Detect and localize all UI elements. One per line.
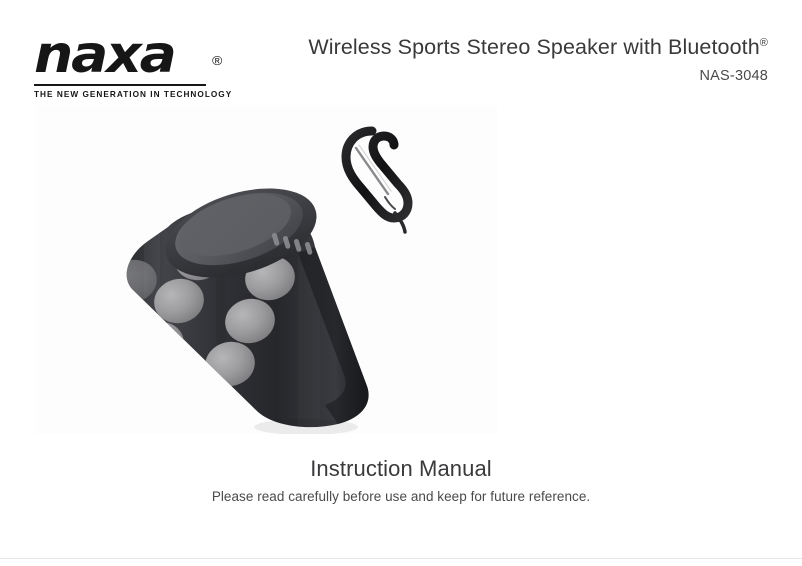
cover-caption-group: Instruction Manual Please read carefully… <box>0 455 802 506</box>
registered-trademark-icon: ® <box>212 34 222 88</box>
brand-wordmark-text: naxa <box>34 25 175 85</box>
carabiner-clip-icon <box>346 131 408 232</box>
naxa-brand-logo: naxa ® THE NEW GENERATION IN TECHNOLOGY <box>34 28 214 99</box>
product-image-region <box>36 105 497 434</box>
instruction-manual-heading: Instruction Manual <box>0 455 802 483</box>
brand-tagline: THE NEW GENERATION IN TECHNOLOGY <box>34 89 209 99</box>
page-header: naxa ® THE NEW GENERATION IN TECHNOLOGY … <box>0 0 802 104</box>
brand-wordmark: naxa ® <box>34 28 225 82</box>
bluetooth-registered-icon: ® <box>760 37 768 49</box>
model-number: NAS-3048 <box>308 68 768 84</box>
page-title-text: Wireless Sports Stereo Speaker with Blue… <box>308 35 759 59</box>
manual-cover-page: naxa ® THE NEW GENERATION IN TECHNOLOGY … <box>0 0 802 566</box>
page-title: Wireless Sports Stereo Speaker with Blue… <box>308 34 768 60</box>
product-photo-speaker <box>36 105 497 434</box>
page-bottom-divider <box>0 558 802 559</box>
title-group: Wireless Sports Stereo Speaker with Blue… <box>308 34 768 84</box>
instruction-manual-subtext: Please read carefully before use and kee… <box>0 488 802 506</box>
